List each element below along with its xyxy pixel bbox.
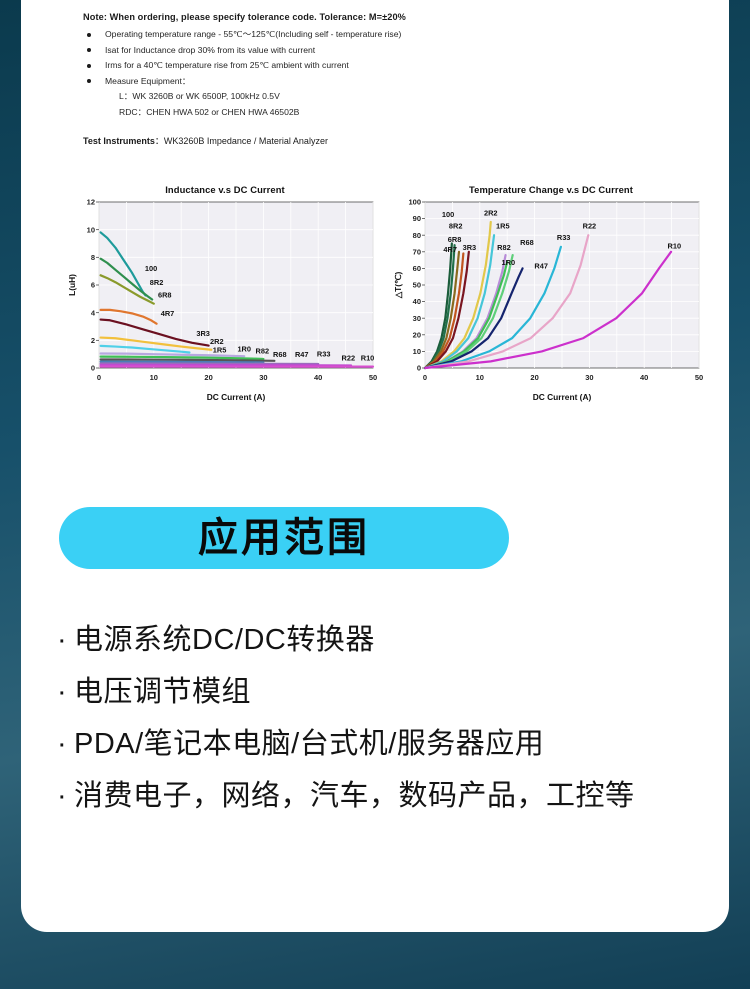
svg-text:1R0: 1R0 [237,344,251,353]
svg-text:8R2: 8R2 [150,278,164,287]
bullet-dot-icon [87,79,91,83]
chart-temperature: Temperature Change v.s DC Current 010203… [391,176,711,408]
bullet-dot-icon [87,64,91,68]
svg-text:40: 40 [314,373,322,382]
svg-text:4R7: 4R7 [161,309,175,318]
svg-text:0: 0 [417,364,421,373]
svg-text:0: 0 [91,364,95,373]
application-scope-banner: 应用范围 [59,507,509,569]
svg-text:40: 40 [413,297,421,306]
svg-text:8: 8 [91,253,95,262]
application-item: ·PDA/笔记本电脑/台式机/服务器应用 [57,718,717,770]
note-bullet-item: Operating temperature range - 55℃～125℃(I… [83,27,683,43]
svg-text:6: 6 [91,281,95,290]
application-item-text: 电源系统DC/DC转换器 [74,624,375,656]
svg-text:20: 20 [413,330,421,339]
application-scope-title: 应用范围 [198,518,370,558]
page-root: Note: When ordering, please specify tole… [0,0,750,989]
content-card: Note: When ordering, please specify tole… [21,0,729,932]
svg-text:R22: R22 [342,353,356,362]
svg-text:3R3: 3R3 [463,243,477,252]
item-marker-icon: · [57,718,74,770]
svg-text:20: 20 [204,373,212,382]
svg-text:50: 50 [413,281,421,290]
note-bullet-item: Irms for a 40℃ temperature rise from 25℃… [83,58,683,74]
svg-text:50: 50 [695,373,703,382]
measure-equipment-l: L：WK 3260B or WK 6500P, 100kHz 0.5V [83,89,683,105]
application-item-text: 消费电子，网络，汽车，数码产品，工控等 [74,780,635,812]
note-bullet-item: Measure Equipment： [83,74,683,90]
application-item-text: 电压调节模组 [74,676,251,708]
svg-text:DC Current (A): DC Current (A) [533,392,592,402]
svg-text:R47: R47 [534,261,548,270]
test-instruments-value: ：WK3260B Impedance / Material Analyzer [155,136,328,146]
svg-text:4: 4 [91,308,96,317]
application-item: ·电压调节模组 [57,666,717,718]
application-item-text: PDA/笔记本电脑/台式机/服务器应用 [74,728,544,760]
svg-text:30: 30 [259,373,267,382]
svg-text:90: 90 [413,214,421,223]
measure-equipment-rdc: RDC：CHEN HWA 502 or CHEN HWA 46502B [83,105,683,121]
note-bullet-text: Irms for a 40℃ temperature rise from 25℃… [105,60,349,70]
item-marker-icon: · [57,770,74,822]
svg-text:60: 60 [413,264,421,273]
note-bullet-text: Isat for Inductance drop 30% from its va… [105,45,315,55]
svg-text:10: 10 [150,373,158,382]
svg-text:0: 0 [423,373,427,382]
notes-bullet-list: Operating temperature range - 55℃～125℃(I… [83,27,683,89]
svg-text:1R0: 1R0 [502,258,516,267]
svg-text:100: 100 [145,264,157,273]
item-marker-icon: · [57,614,74,666]
svg-text:DC Current (A): DC Current (A) [207,392,266,402]
svg-text:R10: R10 [361,353,375,362]
application-item: ·电源系统DC/DC转换器 [57,614,717,666]
chart-inductance-plot: 010203040500246810121008R26R84R73R32R21R… [65,194,385,404]
svg-text:100: 100 [442,210,454,219]
svg-text:4R7: 4R7 [443,245,457,254]
bullet-dot-icon [87,48,91,52]
notes-block: Note: When ordering, please specify tole… [83,10,683,148]
svg-text:40: 40 [640,373,648,382]
svg-text:R82: R82 [497,243,511,252]
chart-temperature-plot: 0102030405001020304050607080901001008R26… [391,194,711,404]
svg-text:R10: R10 [668,241,682,250]
svg-text:20: 20 [530,373,538,382]
svg-text:30: 30 [585,373,593,382]
note-bullet-text: Operating temperature range - 55℃～125℃(I… [105,29,401,39]
svg-text:70: 70 [413,247,421,256]
svg-text:L(uH): L(uH) [67,274,77,296]
svg-text:10: 10 [476,373,484,382]
svg-text:8R2: 8R2 [449,222,463,231]
svg-text:12: 12 [87,198,95,207]
charts-region: Inductance v.s DC Current 01020304050024… [21,176,729,408]
svg-text:30: 30 [413,314,421,323]
svg-text:0: 0 [97,373,101,382]
svg-text:100: 100 [408,198,421,207]
svg-text:1R5: 1R5 [496,222,510,231]
svg-text:R33: R33 [317,350,331,359]
svg-text:△T(℃): △T(℃) [393,272,403,300]
svg-text:80: 80 [413,231,421,240]
svg-text:R22: R22 [583,222,597,231]
svg-text:10: 10 [87,225,95,234]
application-list: ·电源系统DC/DC转换器 ·电压调节模组 ·PDA/笔记本电脑/台式机/服务器… [57,614,717,822]
note-bullet-text: Measure Equipment： [105,76,191,86]
svg-text:R68: R68 [273,350,287,359]
svg-text:R68: R68 [520,238,534,247]
svg-text:6R8: 6R8 [448,235,462,244]
svg-text:R33: R33 [557,233,571,242]
svg-text:2: 2 [91,336,95,345]
svg-text:10: 10 [413,347,421,356]
svg-text:50: 50 [369,373,377,382]
svg-text:R47: R47 [295,350,309,359]
chart-inductance: Inductance v.s DC Current 01020304050024… [65,176,385,408]
bullet-dot-icon [87,33,91,37]
note-bullet-item: Isat for Inductance drop 30% from its va… [83,43,683,59]
notes-title: Note: When ordering, please specify tole… [83,10,683,24]
test-instruments-label: Test Instruments [83,136,155,146]
svg-text:3R3: 3R3 [196,329,210,338]
svg-text:2R2: 2R2 [484,208,498,217]
svg-text:1R5: 1R5 [213,346,227,355]
svg-text:6R8: 6R8 [158,290,172,299]
test-instruments-line: Test Instruments：WK3260B Impedance / Mat… [83,134,683,148]
svg-text:R82: R82 [256,346,270,355]
application-item: ·消费电子，网络，汽车，数码产品，工控等 [57,770,717,822]
item-marker-icon: · [57,666,74,718]
